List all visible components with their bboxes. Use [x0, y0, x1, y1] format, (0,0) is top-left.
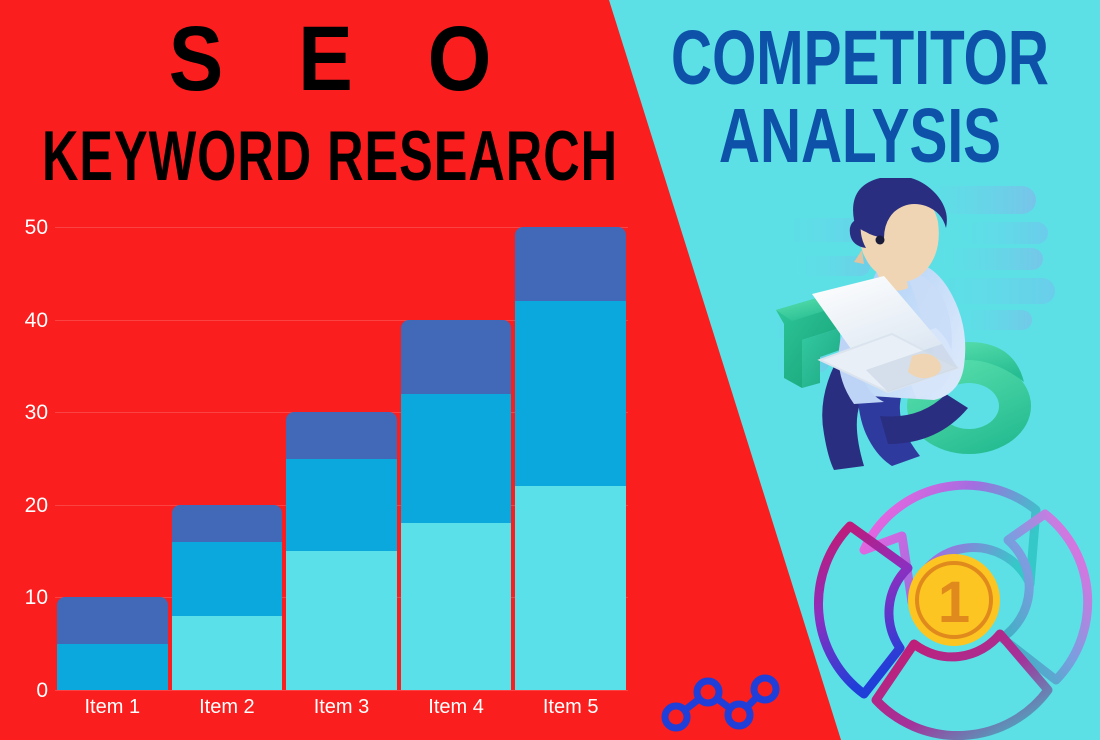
- y-axis-tick-label: 10: [4, 587, 48, 608]
- y-axis-tick-label: 50: [4, 217, 48, 238]
- bar-segment: [515, 486, 626, 690]
- bar-segment: [401, 394, 512, 524]
- seo-title: S E O: [0, 14, 660, 106]
- y-axis-tick-label: 20: [4, 495, 48, 516]
- circular-cycle-badge-illustration: 1: [812, 458, 1096, 740]
- bar-segment: [57, 644, 168, 690]
- bar-column: [399, 227, 514, 690]
- bar-column: [284, 227, 399, 690]
- right-title-group: COMPETITOR ANALYSIS: [650, 22, 1070, 155]
- x-axis-tick-label: Item 3: [284, 696, 399, 719]
- bar-segment: [515, 227, 626, 301]
- bar-segment: [515, 301, 626, 486]
- gridline: [55, 690, 628, 691]
- stacked-bar: [172, 505, 283, 690]
- bar-segment: [286, 412, 397, 458]
- x-axis-tick-label: Item 2: [170, 696, 285, 719]
- stacked-bar: [515, 227, 626, 690]
- person-with-laptop-illustration: [762, 178, 1082, 478]
- bar-column: [513, 227, 628, 690]
- competitor-title-line2: ANALYSIS: [654, 100, 1066, 173]
- y-axis-tick-label: 30: [4, 402, 48, 423]
- poster-canvas: S E O KEYWORD RESEARCH COMPETITOR ANALYS…: [0, 0, 1100, 740]
- stacked-bar-chart: 01020304050 Item 1Item 2Item 3Item 4Item…: [0, 200, 660, 740]
- bar-segment: [172, 542, 283, 616]
- bar-segment: [286, 459, 397, 552]
- line-chart-icon: [660, 668, 780, 734]
- bar-column: [170, 227, 285, 690]
- chart-bars: [55, 227, 628, 690]
- x-axis-tick-label: Item 5: [513, 696, 628, 719]
- x-axis-tick-label: Item 4: [399, 696, 514, 719]
- bar-segment: [172, 505, 283, 542]
- stacked-bar: [401, 320, 512, 690]
- chart-x-axis: Item 1Item 2Item 3Item 4Item 5: [55, 696, 628, 719]
- stacked-bar: [57, 597, 168, 690]
- bar-segment: [286, 551, 397, 690]
- coin-number: 1: [938, 570, 970, 635]
- left-title-group: S E O KEYWORD RESEARCH: [0, 14, 660, 174]
- stacked-bar: [286, 412, 397, 690]
- bar-column: [55, 227, 170, 690]
- bar-segment: [172, 616, 283, 690]
- bar-segment: [57, 597, 168, 643]
- competitor-title-line1: COMPETITOR: [654, 22, 1066, 95]
- x-axis-tick-label: Item 1: [55, 696, 170, 719]
- gold-coin: 1: [908, 554, 1000, 646]
- eye: [876, 236, 885, 245]
- y-axis-tick-label: 0: [4, 680, 48, 701]
- bar-segment: [401, 320, 512, 394]
- y-axis-tick-label: 40: [4, 310, 48, 331]
- bar-segment: [401, 523, 512, 690]
- keyword-research-subtitle: KEYWORD RESEARCH: [10, 122, 650, 192]
